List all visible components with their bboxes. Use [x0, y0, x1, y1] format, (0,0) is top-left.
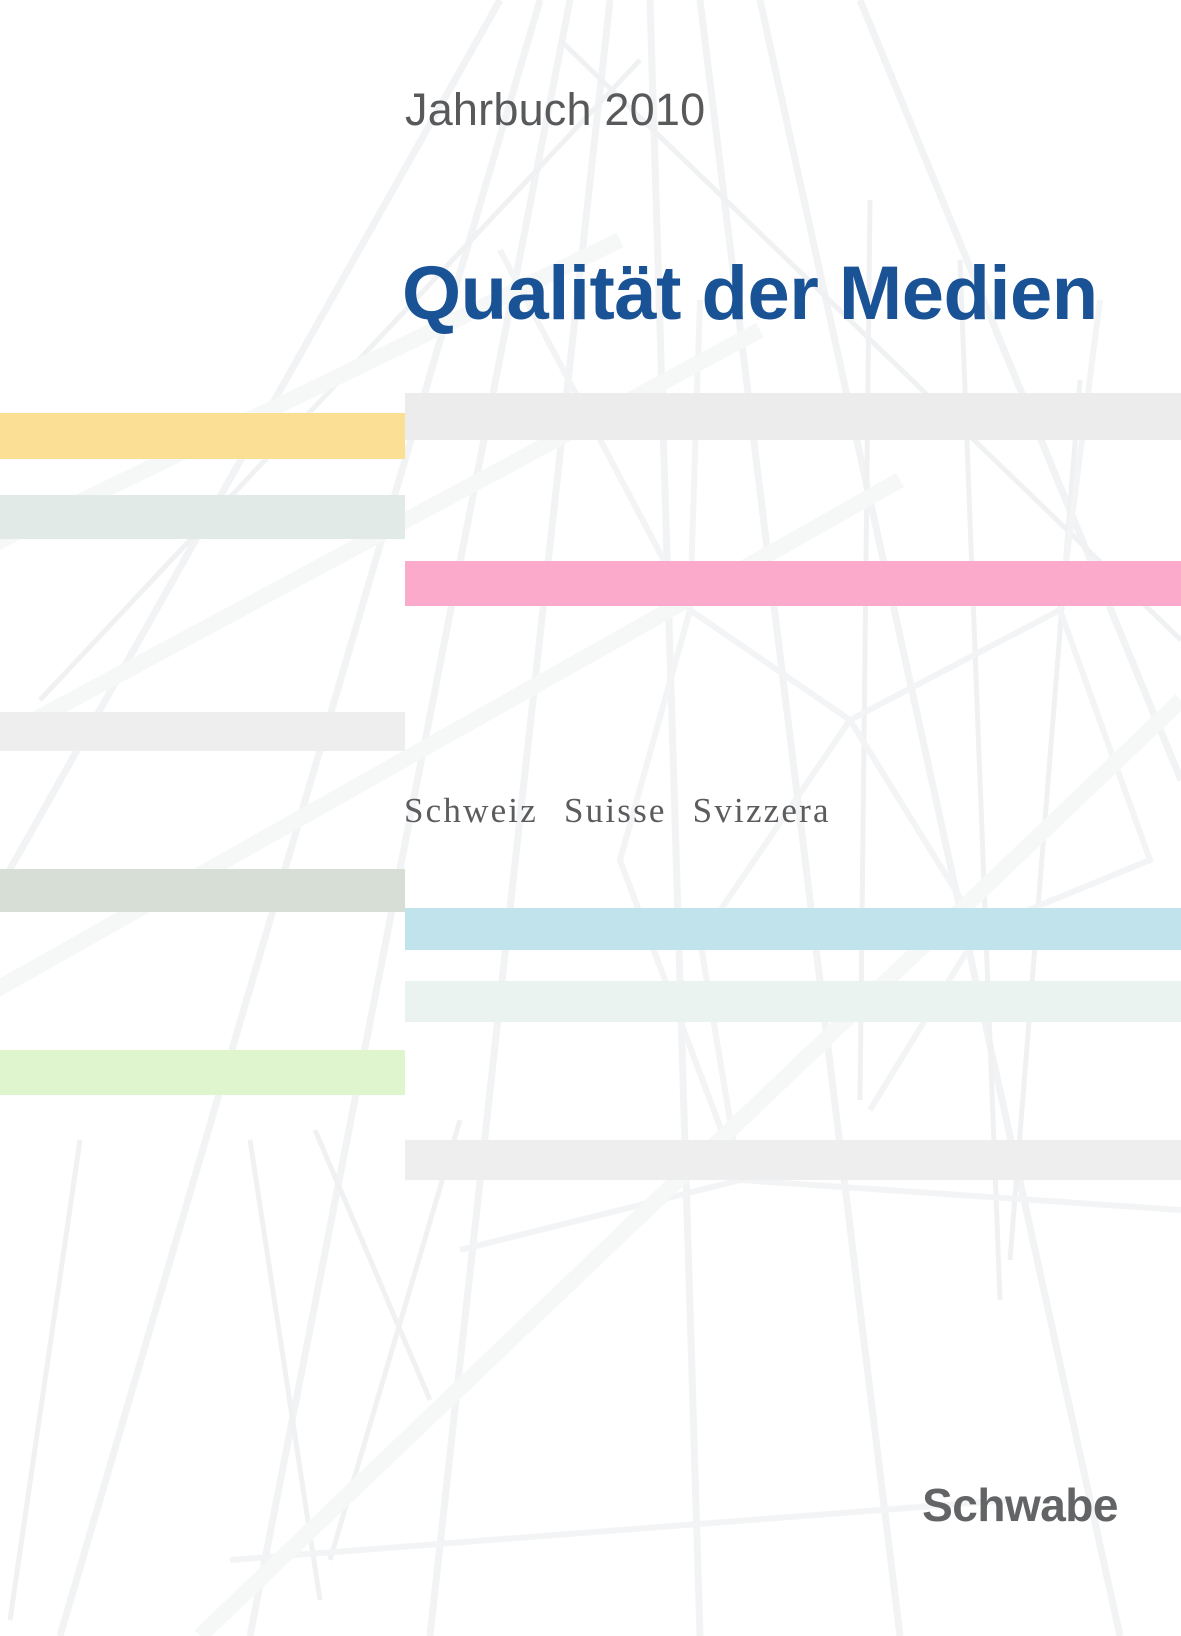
- language-it: Svizzera: [693, 791, 831, 830]
- bar-green-left: [0, 1050, 405, 1095]
- publisher-logo: Schwabe: [922, 1478, 1118, 1532]
- language-fr: Suisse: [564, 791, 667, 830]
- language-de: Schweiz: [404, 791, 538, 830]
- bar-gray-bottom-right: [405, 1140, 1181, 1180]
- bar-palegreen-left: [0, 495, 405, 539]
- bar-pink-right: [405, 561, 1181, 606]
- bar-gray-top-right: [405, 393, 1181, 440]
- page-title: Qualität der Medien: [402, 250, 1098, 337]
- language-line: SchweizSuisseSvizzera: [404, 791, 831, 831]
- cover-kicker: Jahrbuch 2010: [405, 84, 705, 136]
- bar-palemint-right: [405, 981, 1181, 1022]
- bar-sage-left: [0, 869, 405, 912]
- bar-lightgray-left: [0, 712, 405, 751]
- bar-cyan-right: [405, 908, 1181, 950]
- book-cover: Jahrbuch 2010 Qualität der Medien Schwei…: [0, 0, 1181, 1636]
- bar-yellow-left: [0, 413, 405, 459]
